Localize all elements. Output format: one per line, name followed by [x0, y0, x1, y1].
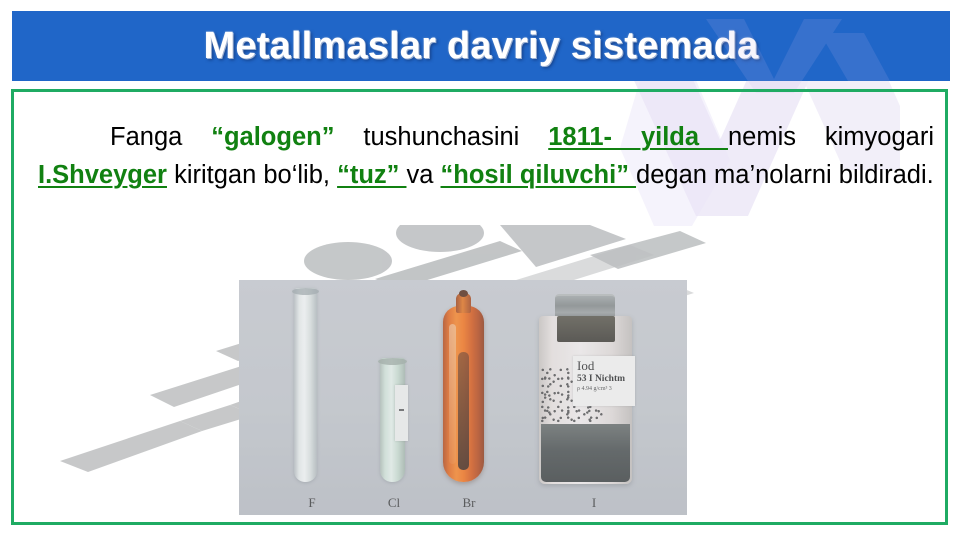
highlight-shveyger: I.Shveyger: [38, 161, 167, 189]
highlight-galogen: “galogen”: [211, 123, 334, 151]
text-nemis-kimyogari: nemis kimyogari: [728, 123, 934, 151]
tube-rim: [378, 358, 407, 365]
caption-f: F: [297, 495, 327, 511]
caption-cl: Cl: [379, 495, 409, 511]
jar-label-name: Iod: [577, 358, 635, 373]
jar-label-line2: 53 I Nichtm: [577, 373, 635, 385]
text-degan-manolarni: degan ma’nolarni bildiradi.: [636, 161, 934, 189]
body-paragraph: Fanga “galogen” tushunchasini 1811- yild…: [38, 118, 934, 194]
caption-i: I: [579, 495, 609, 511]
iodine-jar: Iod 53 I Nichtm ρ 4.94 g/cm³ 3: [539, 294, 632, 484]
text-tushunchasini: tushunchasini: [334, 123, 548, 151]
ampoule-tip: [459, 290, 468, 297]
ampoule-core: [458, 352, 469, 470]
chlorine-tag: [395, 385, 408, 441]
page-title: Metallmaslar davriy sistemada: [204, 25, 759, 68]
text-kiritgan-bolib: kiritgan bo‘lib,: [167, 161, 337, 189]
highlight-year: 1811- yilda: [548, 123, 728, 151]
iodine-crystals: [541, 424, 630, 482]
jar-neck-dark: [557, 316, 615, 342]
highlight-tuz: “tuz”: [337, 161, 406, 189]
highlight-hosil-qiluvchi: “hosil qiluvchi”: [441, 161, 637, 189]
bromine-ampoule: [443, 306, 484, 482]
halogens-photo: Iod 53 I Nichtm ρ 4.94 g/cm³ 3 F Cl Br I: [239, 280, 687, 515]
text-fanga: Fanga: [110, 123, 211, 151]
content-frame: Fanga “galogen” tushunchasini 1811- yild…: [11, 89, 948, 525]
tube-rim: [292, 288, 319, 295]
ampoule-gloss: [449, 324, 456, 464]
text-va: va: [406, 161, 433, 189]
slide-canvas: Metallmaslar davriy sistemada Fanga “gal…: [0, 0, 961, 540]
photo-content: Iod 53 I Nichtm ρ 4.94 g/cm³ 3 F Cl Br I: [239, 280, 687, 515]
caption-br: Br: [454, 495, 484, 511]
jar-label-line3: ρ 4.94 g/cm³ 3: [577, 385, 635, 394]
fluorine-tube: [294, 288, 317, 482]
jar-label: Iod 53 I Nichtm ρ 4.94 g/cm³ 3: [573, 356, 635, 406]
chlorine-tube: [380, 358, 405, 482]
title-banner: Metallmaslar davriy sistemada: [12, 11, 950, 81]
